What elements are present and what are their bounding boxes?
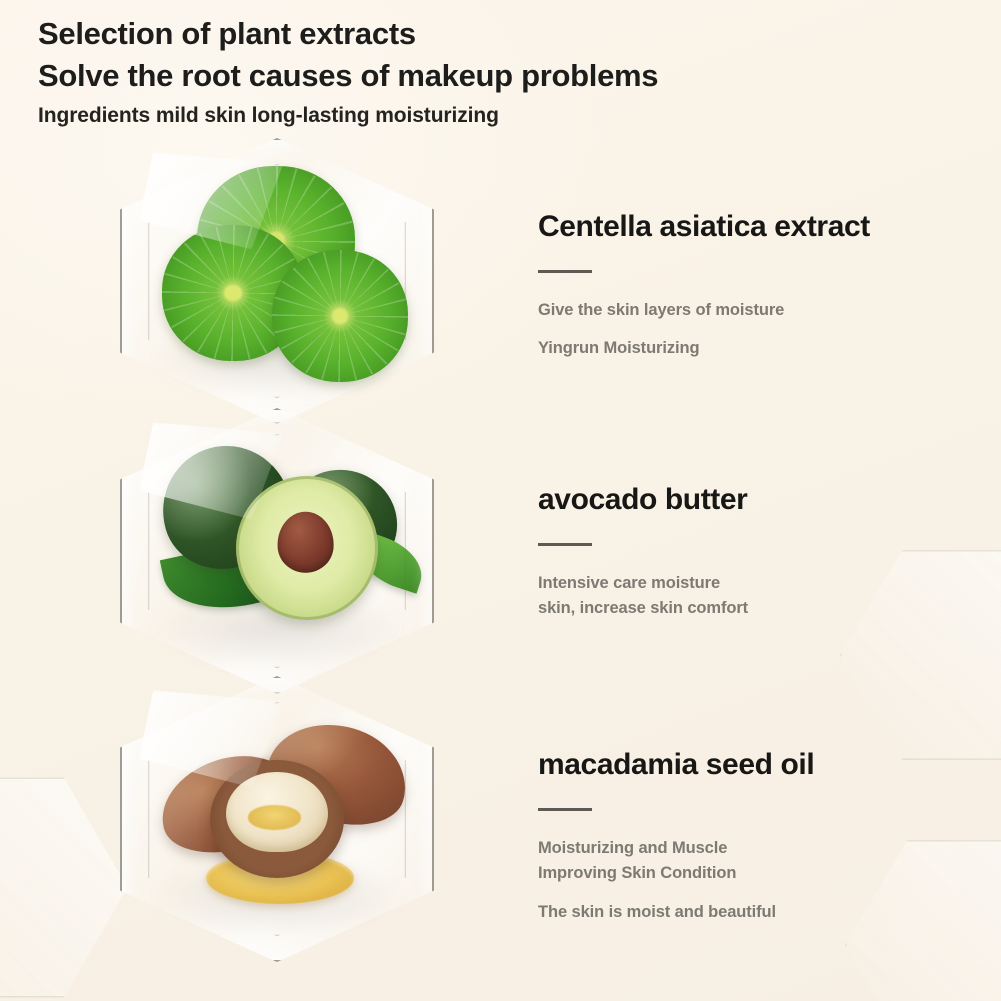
poster-canvas: Selection of plant extracts Solve the ro… (0, 0, 1001, 1001)
ingredient-title: macadamia seed oil (538, 748, 968, 783)
title-divider (538, 270, 592, 273)
hexagon-dish-macadamia (120, 676, 434, 962)
ingredient-entry-macadamia: macadamia seed oil Moisturizing and Musc… (538, 748, 968, 925)
description-line: Yingrun Moisturizing (538, 336, 968, 362)
headline-subtitle: Ingredients mild skin long-lasting moist… (38, 102, 798, 129)
headline-line-1: Selection of plant extracts (38, 14, 798, 54)
hexagon-dish-avocado (120, 408, 434, 694)
ingredient-entry-avocado: avocado butter Intensive care moisture s… (538, 483, 968, 622)
description-line: skin, increase skin comfort (538, 596, 968, 622)
ingredient-description: Give the skin layers of moisture Yingrun… (538, 298, 968, 362)
headline-line-2: Solve the root causes of makeup problems (38, 56, 798, 96)
description-line: Moisturizing and Muscle (538, 836, 968, 862)
headline-block: Selection of plant extracts Solve the ro… (38, 14, 798, 130)
description-line: Give the skin layers of moisture (538, 298, 968, 324)
description-line: Improving Skin Condition (538, 861, 968, 887)
title-divider (538, 543, 592, 546)
ingredient-description: Moisturizing and Muscle Improving Skin C… (538, 836, 968, 926)
description-line: The skin is moist and beautiful (538, 900, 968, 926)
title-divider (538, 808, 592, 811)
ingredient-title: avocado butter (538, 483, 968, 518)
decorative-hexagon-left-lower (0, 778, 128, 998)
ingredient-title: Centella asiatica extract (538, 210, 968, 245)
ingredient-description: Intensive care moisture skin, increase s… (538, 571, 968, 622)
hexagon-dish-centella (120, 138, 434, 424)
description-line: Intensive care moisture (538, 571, 968, 597)
ingredient-entry-centella: Centella asiatica extract Give the skin … (538, 210, 968, 362)
